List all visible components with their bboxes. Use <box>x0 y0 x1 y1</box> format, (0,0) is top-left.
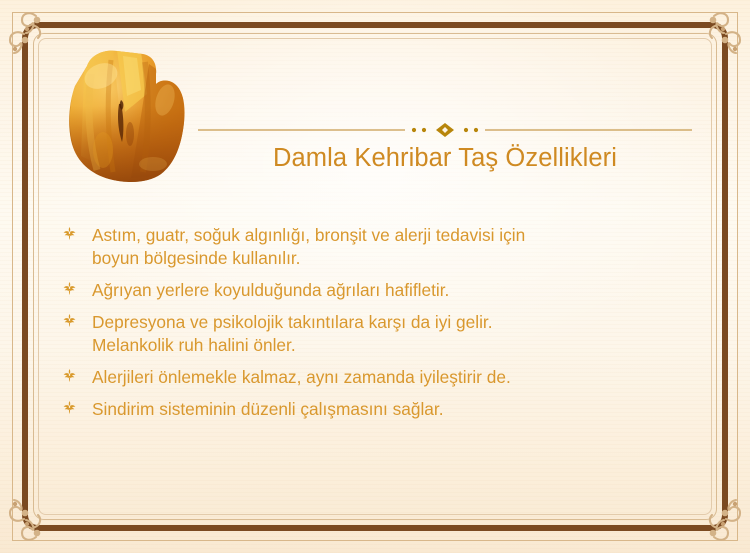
corner-flourish-ornament-icon <box>670 473 748 551</box>
list-item-text: Sindirim sisteminin düzenli çalışmasını … <box>92 398 692 421</box>
list-item: Ağrıyan yerlere koyulduğunda ağrıları ha… <box>62 279 692 302</box>
list-item: Sindirim sisteminin düzenli çalışmasını … <box>62 398 692 421</box>
page-title: Damla Kehribar Taş Özellikleri <box>190 144 700 173</box>
list-item: Astım, guatr, soğuk algınlığı, bronşit v… <box>62 224 692 270</box>
list-item: Alerjileri önlemekle kalmaz, aynı zamand… <box>62 366 692 389</box>
properties-list: Astım, guatr, soğuk algınlığı, bronşit v… <box>62 224 692 430</box>
list-item-text: Alerjileri önlemekle kalmaz, aynı zamand… <box>92 366 692 389</box>
list-item-text: Depresyona ve psikolojik takıntılara kar… <box>92 311 692 357</box>
fleur-de-lis-icon <box>62 366 84 383</box>
title-block: Damla Kehribar Taş Özellikleri <box>190 122 700 173</box>
diamond-divider-ornament-icon <box>190 122 700 138</box>
list-item-text: Ağrıyan yerlere koyulduğunda ağrıları ha… <box>92 279 692 302</box>
fleur-de-lis-icon <box>62 311 84 328</box>
corner-flourish-ornament-icon <box>2 473 80 551</box>
fleur-de-lis-icon <box>62 398 84 415</box>
amber-properties-card: Damla Kehribar Taş Özellikleri Astım, gu… <box>0 0 750 553</box>
list-item-text: Astım, guatr, soğuk algınlığı, bronşit v… <box>92 224 692 270</box>
fleur-de-lis-icon <box>62 279 84 296</box>
amber-stone-image <box>57 46 193 186</box>
list-item: Depresyona ve psikolojik takıntılara kar… <box>62 311 692 357</box>
corner-flourish-ornament-icon <box>670 2 748 80</box>
fleur-de-lis-icon <box>62 224 84 241</box>
